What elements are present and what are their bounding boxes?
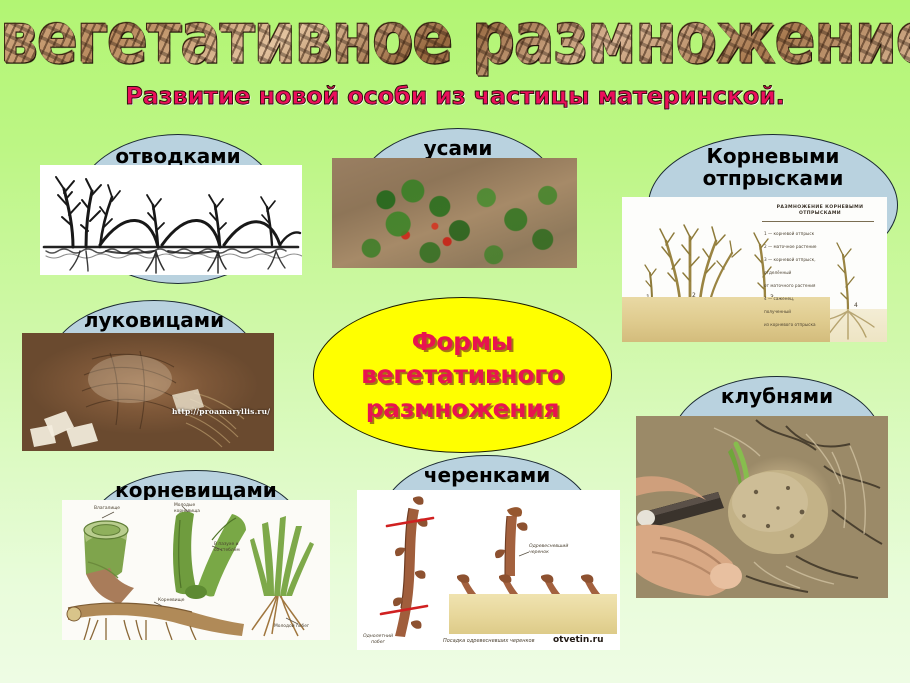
rhizome-drawing [62,500,330,640]
legend-title: РАЗМНОЖЕНИЕ КОРНЕВЫМИ ОТПРЫСКАМИ [760,205,880,218]
photo-runners [332,158,577,268]
label-text-tubers: клубнями [721,385,833,407]
center-ellipse-label: Формы вегетативного размножения [361,325,564,425]
rhizome-annotation-5: Молодой побег [274,624,309,630]
cuttings-annotation-hardwood: Одревесневший черенок [529,544,568,556]
photo-layering [40,165,302,275]
layering-drawing [40,165,302,275]
cuttings-annotation-planting: Посадка одревесневших черенков [443,638,535,645]
tuber-photo-detail [636,416,888,598]
bulb-photo-detail [22,333,274,451]
legend-item-4: отделённый [764,270,791,275]
photo-rhizomes: Влагалище Молодые корневища В пазухе и с… [62,500,330,640]
cuttings-annotation-shoot: Однолетний побег [363,634,393,646]
label-text-runners: усами [424,137,493,159]
label-text-bulbs: луковицами [84,309,224,331]
photo-tubers [636,416,888,598]
legend-item-6: 4 — саженец, [764,296,794,301]
photo-cuttings: Одревесневший черенок Однолетний побег П… [357,490,620,650]
photo-root-suckers: 1 2 3 4 РАЗМНОЖЕНИЕ КОРНЕВЫМИ ОТПРЫСКАМИ… [622,197,887,342]
legend-item-7: полученный [764,309,791,314]
page-subtitle: Развитие новой особи из частицы материнс… [0,82,910,110]
legend-item-2: 2 — маточное растение [764,244,817,249]
photo-bulbs: http://proamaryllis.ru/ [22,333,274,451]
soil-band-cuttings [449,594,617,634]
rhizome-annotation-2: Молодые корневища [174,503,200,514]
label-text-rhizomes: корневищами [115,479,277,501]
rhizome-annotation-4: Корневище [158,598,184,604]
root-suckers-legend: РАЗМНОЖЕНИЕ КОРНЕВЫМИ ОТПРЫСКАМИ 1 — кор… [760,205,880,267]
legend-item-5: от маточного растения [764,283,815,288]
legend-item-1: 1 — корневой отпрыск [764,231,814,236]
legend-item-8: из корневого отпрыска [764,322,816,327]
bulbs-watermark: http://proamaryllis.ru/ [172,407,270,416]
center-ellipse-forms[interactable]: Формы вегетативного размножения [313,297,612,453]
cuttings-watermark: otvetin.ru [553,635,604,645]
title-block: вегетативное размножение [0,8,910,69]
page-title: вегетативное размножение [0,4,910,76]
slide-canvas: вегетативное размножение Развитие новой … [0,0,910,683]
label-text-root-suckers: Корневыми отпрысками [703,145,844,190]
rhizome-annotation-3: В пазухе и со стеблём [214,542,240,553]
label-text-cuttings: черенками [424,464,550,486]
legend-item-3: 3 — корневой отпрыск, [764,257,816,262]
legend-items: 1 — корневой отпрыск 2 — маточное растен… [760,225,880,329]
rhizome-annotation-1: Влагалище [94,506,120,512]
legend-divider [762,221,874,222]
